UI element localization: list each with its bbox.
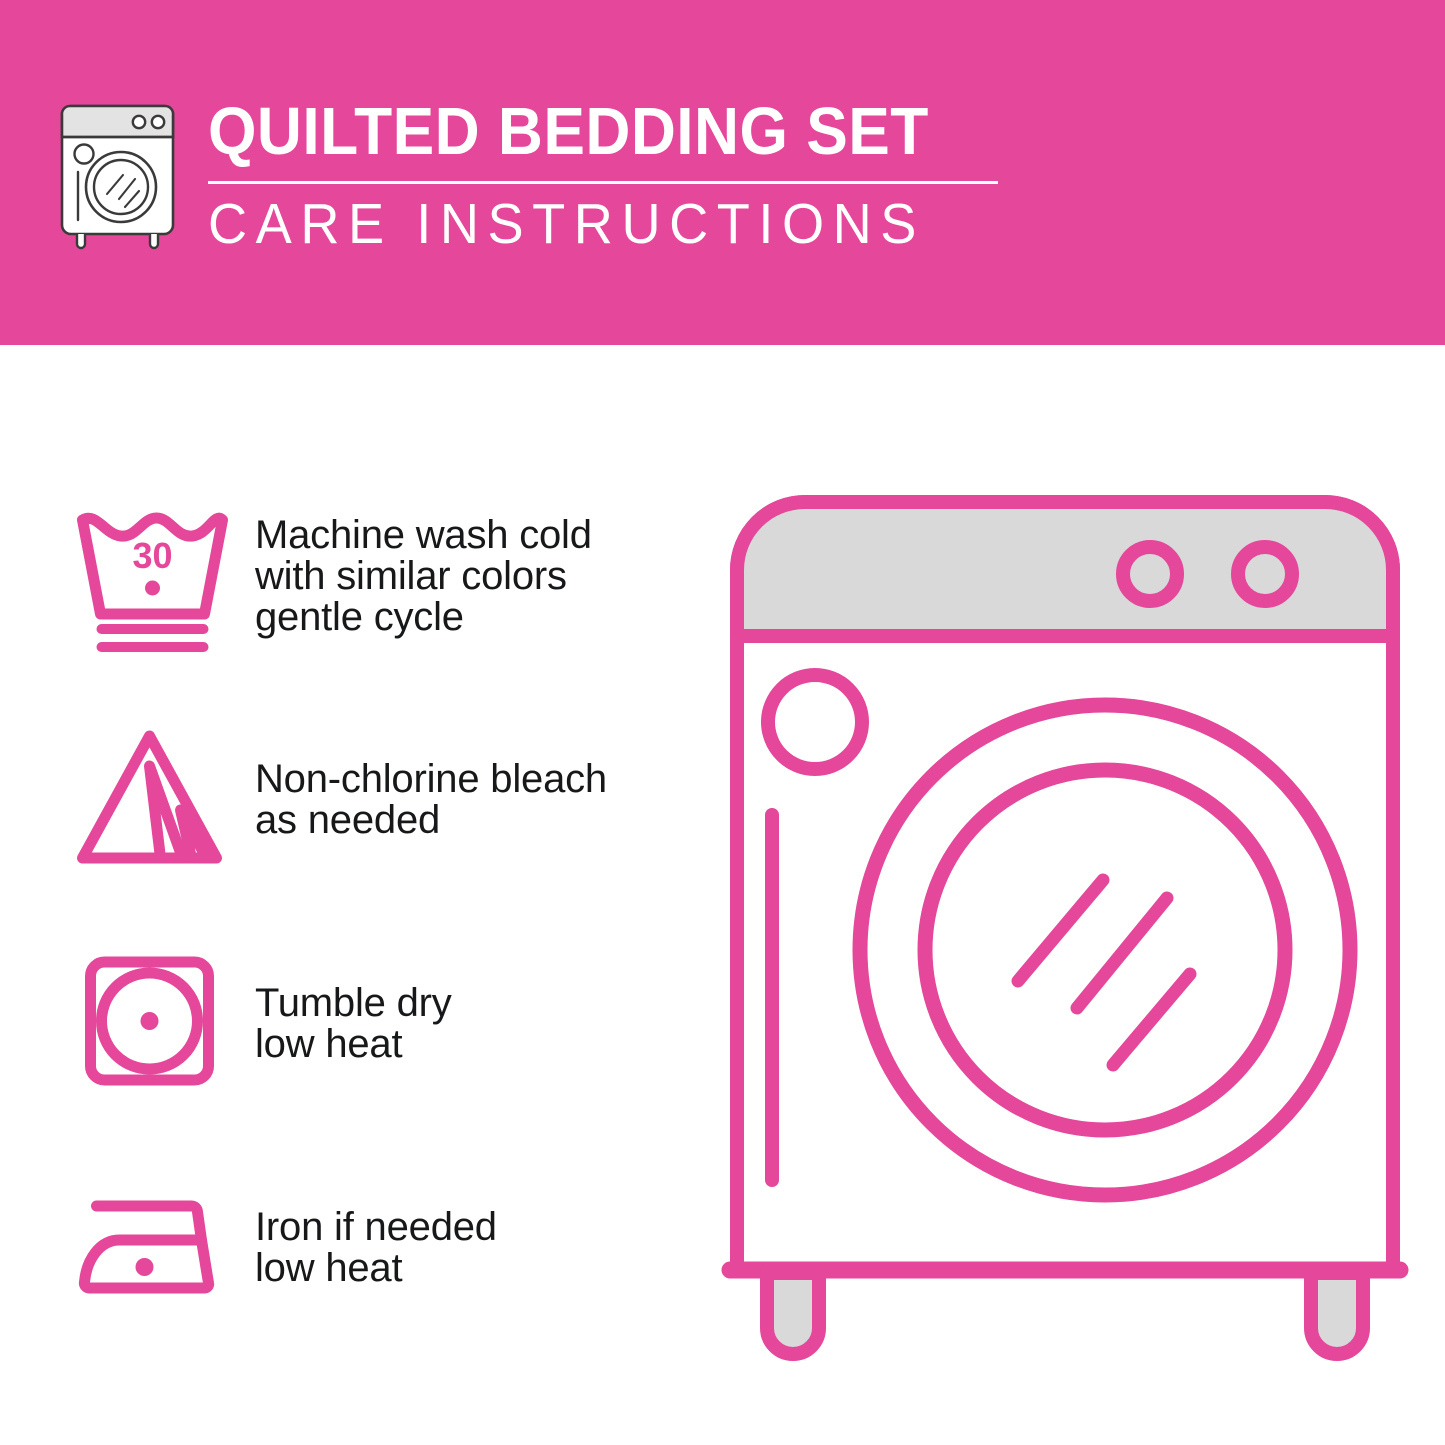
non-chlorine-bleach-triangle-symbol: [62, 720, 237, 880]
care-row-iron: Iron if needed low heat: [62, 1162, 702, 1334]
tumble-dry-low-heat-symbol: [62, 944, 237, 1104]
header-banner: QUILTED BEDDING SET CARE INSTRUCTIONS: [0, 0, 1445, 345]
care-row-machine-wash: 30 Machine wash cold with similar colors…: [62, 490, 702, 662]
care-text-line: Iron if needed: [255, 1207, 702, 1248]
care-text-line: Tumble dry: [255, 983, 702, 1024]
care-text-machine-wash: Machine wash cold with similar colors ge…: [255, 515, 702, 638]
care-row-tumble-dry: Tumble dry low heat: [62, 938, 702, 1110]
iron-low-heat-symbol: [62, 1168, 237, 1328]
care-text-line: low heat: [255, 1248, 702, 1289]
header-title-group: QUILTED BEDDING SET CARE INSTRUCTIONS: [208, 95, 998, 254]
wash-temp-label: 30: [132, 535, 172, 576]
front-load-washing-machine-illustration: [715, 480, 1415, 1380]
care-text-line: Non-chlorine bleach: [255, 759, 702, 800]
care-text-line: as needed: [255, 800, 702, 841]
care-row-bleach: Non-chlorine bleach as needed: [62, 714, 702, 886]
page-subtitle: CARE INSTRUCTIONS: [208, 194, 959, 254]
care-text-tumble-dry: Tumble dry low heat: [255, 983, 702, 1065]
care-instruction-list: 30 Machine wash cold with similar colors…: [62, 490, 702, 1334]
washing-machine-icon: [55, 100, 180, 250]
title-divider: [208, 181, 998, 184]
care-instructions-infographic: QUILTED BEDDING SET CARE INSTRUCTIONS 30: [0, 0, 1445, 1445]
care-text-line: Machine wash cold: [255, 515, 702, 556]
care-text-line: with similar colors: [255, 556, 702, 597]
care-text-line: low heat: [255, 1024, 702, 1065]
page-title: QUILTED BEDDING SET: [208, 97, 943, 167]
machine-foot-left: [767, 1273, 819, 1354]
wash-tub-30-gentle-symbol: 30: [62, 496, 237, 656]
care-text-bleach: Non-chlorine bleach as needed: [255, 759, 702, 841]
header-content: QUILTED BEDDING SET CARE INSTRUCTIONS: [55, 95, 995, 270]
care-text-line: gentle cycle: [255, 597, 702, 638]
machine-foot-right: [1311, 1273, 1363, 1354]
care-text-iron: Iron if needed low heat: [255, 1207, 702, 1289]
